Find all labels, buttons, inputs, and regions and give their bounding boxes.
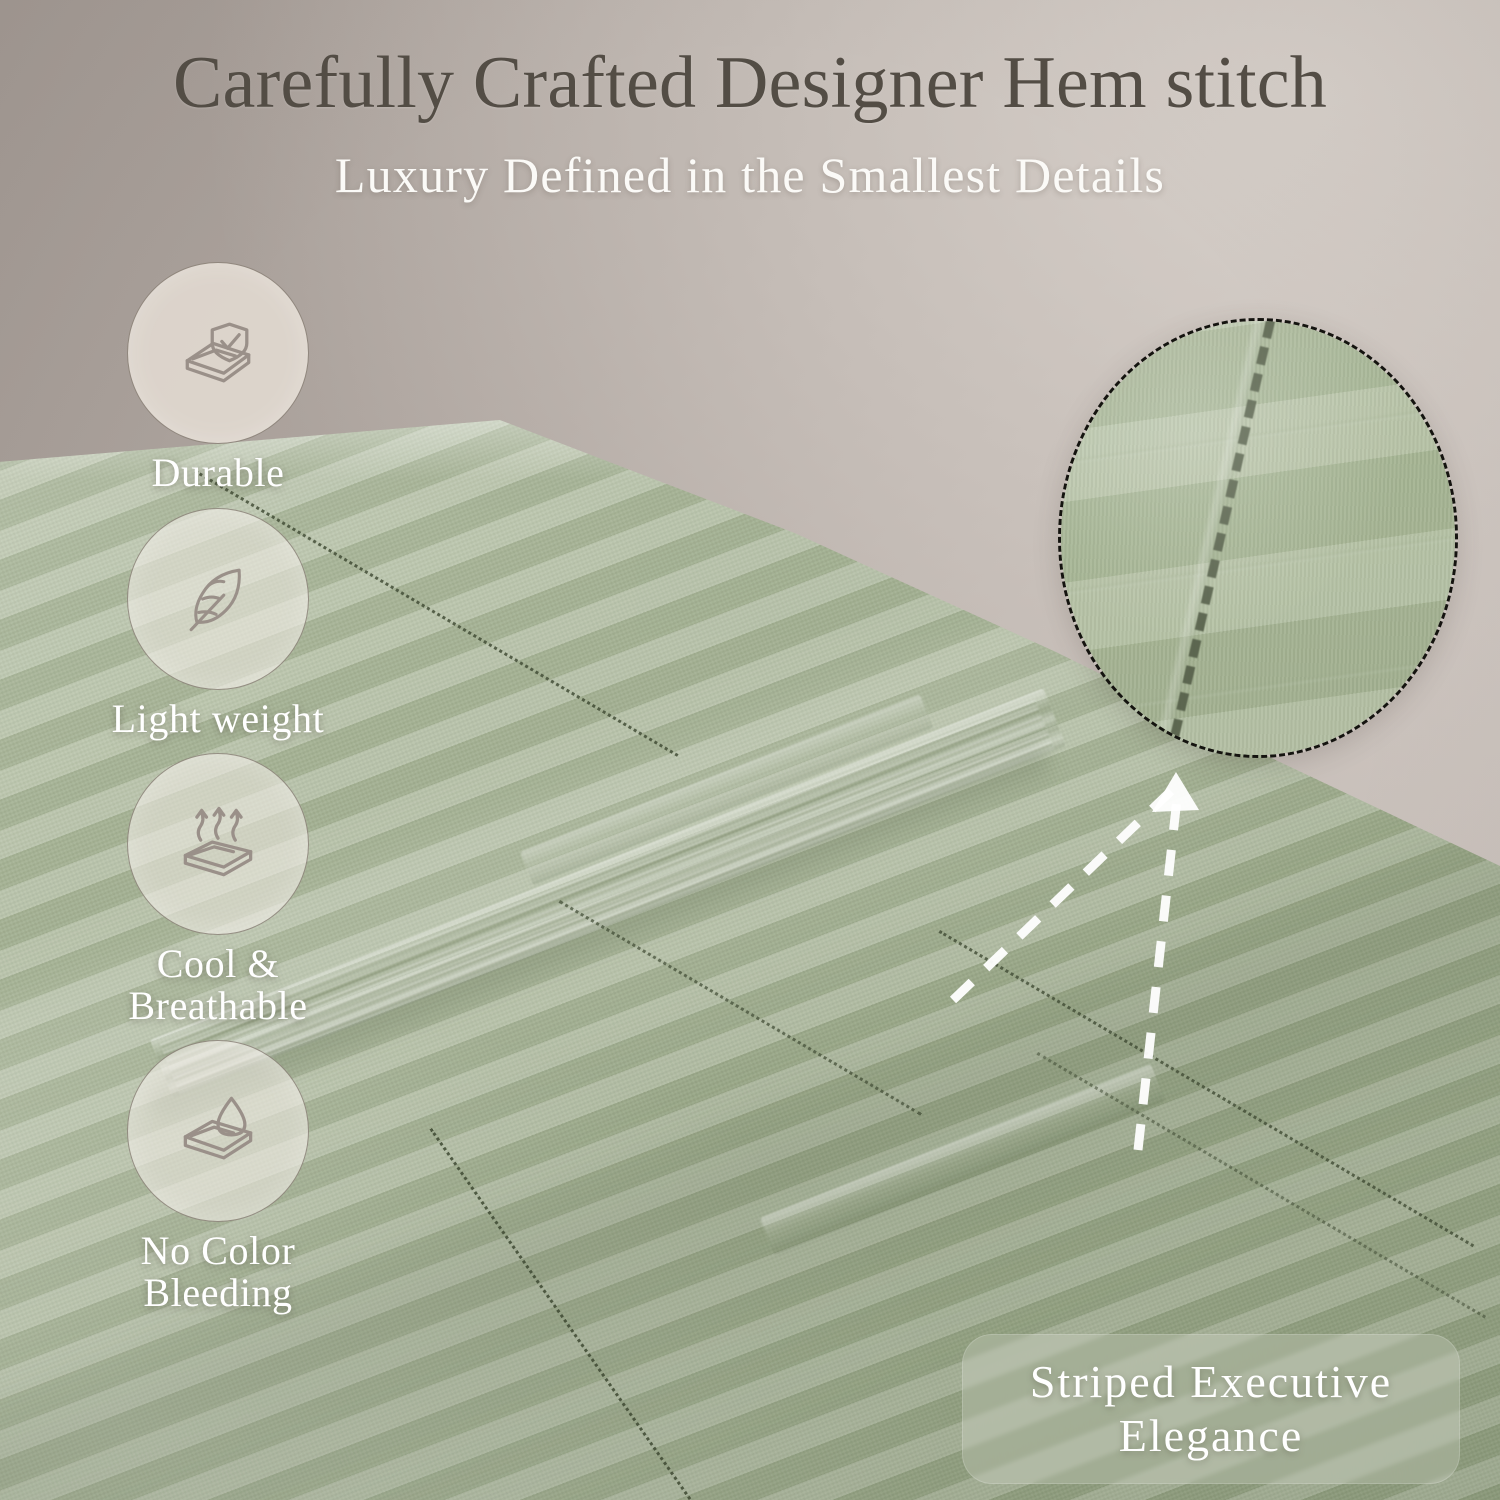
durable-icon-badge bbox=[127, 262, 309, 444]
feature-label-line2: Bleeding bbox=[68, 1272, 368, 1314]
light-weight-icon-badge bbox=[127, 508, 309, 690]
feature-label-light-weight: Light weight bbox=[68, 698, 368, 740]
folded-sheet-water-droplet-icon bbox=[170, 1083, 266, 1179]
folded-sheet-airflow-arrows-icon bbox=[170, 796, 266, 892]
feature-item-cool-breathable: Cool & Breathable bbox=[68, 753, 368, 1026]
feature-label-no-color-bleeding: No Color Bleeding bbox=[68, 1230, 368, 1313]
feature-label-line1: Light weight bbox=[68, 698, 368, 740]
feature-item-light-weight: Light weight bbox=[68, 508, 368, 740]
feature-label-durable: Durable bbox=[68, 452, 368, 494]
page-title: Carefully Crafted Designer Hem stitch bbox=[0, 44, 1500, 122]
feature-list: Durable Light weight bbox=[68, 262, 388, 1328]
feature-label-line1: Durable bbox=[68, 452, 368, 494]
feature-label-line1: No Color bbox=[68, 1230, 368, 1272]
magnifier-gloss bbox=[1061, 321, 1455, 755]
feature-label-line2: Breathable bbox=[68, 985, 368, 1027]
feature-item-durable: Durable bbox=[68, 262, 368, 494]
caption-line1: Striped Executive Elegance bbox=[963, 1355, 1459, 1464]
hemstitch-magnifier-circle bbox=[1058, 318, 1458, 758]
page-subtitle: Luxury Defined in the Smallest Details bbox=[0, 148, 1500, 203]
folded-sheet-shield-check-icon bbox=[170, 305, 266, 401]
no-color-bleeding-icon-badge bbox=[127, 1040, 309, 1222]
feature-item-no-color-bleeding: No Color Bleeding bbox=[68, 1040, 368, 1313]
product-feature-image: Carefully Crafted Designer Hem stitch Lu… bbox=[0, 0, 1500, 1500]
product-caption-badge: Striped Executive Elegance bbox=[962, 1334, 1460, 1484]
feature-label-cool-breathable: Cool & Breathable bbox=[68, 943, 368, 1026]
feature-label-line1: Cool & bbox=[68, 943, 368, 985]
feather-icon bbox=[170, 551, 266, 647]
cool-breathable-icon-badge bbox=[127, 753, 309, 935]
